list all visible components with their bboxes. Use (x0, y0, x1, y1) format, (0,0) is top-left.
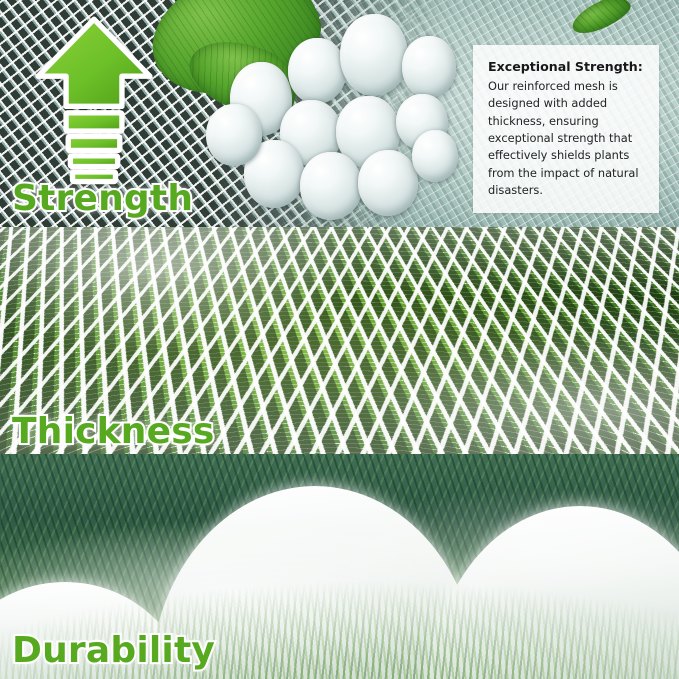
hailstone (358, 150, 418, 216)
card-title: Exceptional Strength: (488, 58, 644, 75)
hailstone (402, 36, 456, 98)
hailstone (206, 104, 262, 166)
hailstone (340, 14, 408, 96)
hailstone (412, 130, 458, 182)
growth-arrow-icon-strength (28, 16, 160, 188)
hailstone (288, 38, 346, 104)
category-label-durability: Durability (12, 630, 215, 671)
feature-card-strength: Exceptional Strength: Our reinforced mes… (473, 45, 659, 213)
category-label-strength: Strength (12, 178, 193, 219)
category-label-thickness: Thickness (12, 411, 215, 452)
card-body: Our reinforced mesh is designed with add… (488, 78, 644, 199)
hailstone (300, 152, 362, 220)
product-infographic: Exceptional Strength: Our reinforced mes… (0, 0, 679, 679)
